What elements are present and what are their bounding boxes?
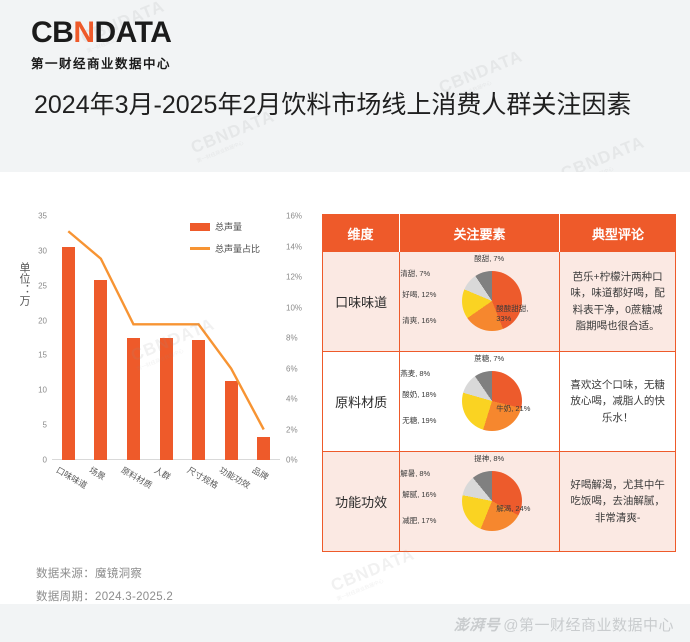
factors-table: 维度 关注要素 典型评论 口味味道酸酸甜甜,33%清爽, 16%好喝, 12%清… [322,214,676,552]
y-axis-tick: 10 [38,386,47,395]
page-footer: 数据来源：魔镜洞察 数据周期：2024.3-2025.2 澎湃号@第一财经商业数… [0,604,690,642]
pie-slice-label: 酸奶, 18% [402,390,436,400]
legend-item-line: 总声量占比 [190,242,260,255]
logo-subtitle: 第一财经商业数据中心 [31,53,171,72]
dimension-label: 功能功效 [335,492,387,511]
chart-legend: 总声量 总声量占比 [190,220,260,264]
x-axis-tick-label: 品牌 [250,464,271,483]
pie-slice-label: 酸甜, 7% [474,254,504,264]
y2-axis-tick: 6% [286,364,298,373]
y2-axis-tick: 2% [286,425,298,434]
typical-comment-text: 喜欢这个口味，无糖放心喝，减脂人的快乐水！ [560,377,675,426]
table-row: 口味味道酸酸甜甜,33%清爽, 16%好喝, 12%清甜, 7%酸甜, 7%芭乐… [322,252,676,352]
y-axis-tick: 5 [43,421,47,430]
pie-slice-label: 解暑, 8% [400,469,430,479]
y-axis-tick: 20 [38,316,47,325]
table-header-comments: 典型评论 [560,214,676,252]
y-axis-tick: 15 [38,351,47,360]
pie-chart: 酸酸甜甜,33%清爽, 16%好喝, 12%清甜, 7%酸甜, 7% [400,252,559,351]
legend-bar-label: 总声量 [215,220,242,233]
typical-comment-text: 芭乐+柠檬汁两种口味，味道都好喝，配料表干净，0蔗糖减脂期喝也很合适。 [560,269,675,334]
table-cell-pie-chart: 解渴, 24%减肥, 17%解腻, 16%解暑, 8%提神, 8% [400,452,560,551]
x-axis-tick-label: 原料材质 [119,464,154,491]
table-cell-comment: 好喝解渴，尤其中午吃饭喝，去油解腻，非常清爽- [560,452,675,551]
page-title: 2024年3月-2025年2月饮料市场线上消费人群关注因素 [34,88,634,123]
table-cell-dimension: 原料材质 [323,352,400,451]
pie-slice-label: 燕麦, 8% [400,369,430,379]
pie-slice-label: 减肥, 17% [402,516,436,526]
table-row: 原料材质牛奶, 21%无糖, 19%酸奶, 18%燕麦, 8%蔗糖, 7%喜欢这… [322,352,676,452]
pie-slice-label: 清爽, 16% [402,316,436,326]
table-header-elements: 关注要素 [400,214,560,252]
dimension-label: 原料材质 [335,392,387,411]
y-axis-title: 单位：万 [16,262,32,306]
dimension-label: 口味味道 [335,292,387,311]
publisher-name: @第一财经商业数据中心 [503,617,674,634]
table-header-row: 维度 关注要素 典型评论 [322,214,676,252]
pie-slice-label: 无糖, 19% [402,416,436,426]
data-period-text: 数据周期：2024.3-2025.2 [36,588,173,604]
table-cell-comment: 芭乐+柠檬汁两种口味，味道都好喝，配料表干净，0蔗糖减脂期喝也很合适。 [560,252,675,351]
y2-axis-tick: 10% [286,303,302,312]
table-cell-pie-chart: 酸酸甜甜,33%清爽, 16%好喝, 12%清甜, 7%酸甜, 7% [400,252,560,351]
cbndata-logo: CBNDATA 第一财经商业数据中心 [31,18,171,72]
table-cell-comment: 喜欢这个口味，无糖放心喝，减脂人的快乐水！ [560,352,675,451]
pie-chart: 解渴, 24%减肥, 17%解腻, 16%解暑, 8%提神, 8% [400,452,559,551]
pie-slices [462,471,522,531]
pie-slice-label: 解腻, 16% [402,490,436,500]
pie-chart: 牛奶, 21%无糖, 19%酸奶, 18%燕麦, 8%蔗糖, 7% [400,352,559,451]
x-axis-tick-label: 口味味道 [54,464,89,491]
content-card: 单位：万 051015202530350%2%4%6%8%10%12%14%16… [0,172,690,604]
logo-cb: CB [31,16,73,49]
pie-slice-label: 提神, 8% [474,454,504,464]
y-axis-tick: 30 [38,246,47,255]
pie-slice-label: 解渴, 24% [496,504,530,514]
publisher-brand: 澎湃号@第一财经商业数据中心 [454,614,674,635]
paopai-mark: 澎湃号 [454,617,501,634]
x-axis-tick-label: 人群 [152,464,173,483]
legend-item-bar: 总声量 [190,220,260,233]
y2-axis-tick: 14% [286,242,302,251]
x-axis-tick-label: 场景 [87,464,108,483]
legend-line-label: 总声量占比 [215,242,260,255]
logo-data: DATA [95,16,172,49]
pie-slices [462,371,522,431]
table-row: 功能功效解渴, 24%减肥, 17%解腻, 16%解暑, 8%提神, 8%好喝解… [322,452,676,552]
pie-slice-label: 蔗糖, 7% [474,354,504,364]
pie-slice-label: 好喝, 12% [402,290,436,300]
pie-slice-label: 酸酸甜甜,33% [496,304,528,324]
pie-slice-label: 牛奶, 21% [496,404,530,414]
y-axis-tick: 25 [38,281,47,290]
table-body: 口味味道酸酸甜甜,33%清爽, 16%好喝, 12%清甜, 7%酸甜, 7%芭乐… [322,252,676,552]
y2-axis-tick: 4% [286,395,298,404]
y-axis-tick: 35 [38,212,47,221]
table-cell-dimension: 功能功效 [323,452,400,551]
y2-axis-tick: 12% [286,273,302,282]
typical-comment-text: 好喝解渴，尤其中午吃饭喝，去油解腻，非常清爽- [560,477,675,526]
y-axis-tick: 0 [43,456,47,465]
y2-axis-tick: 16% [286,212,302,221]
pie-slice-label: 清甜, 7% [400,269,430,279]
y2-axis-tick: 0% [286,456,298,465]
table-cell-pie-chart: 牛奶, 21%无糖, 19%酸奶, 18%燕麦, 8%蔗糖, 7% [400,352,560,451]
x-axis-tick-label: 功能功效 [217,464,252,491]
logo-n: N [73,16,94,49]
table-cell-dimension: 口味味道 [323,252,400,351]
table-header-dimension: 维度 [322,214,400,252]
combo-bar-line-chart: 单位：万 051015202530350%2%4%6%8%10%12%14%16… [14,206,316,516]
page-header: CBNDATA 第一财经商业数据中心 2024年3月-2025年2月饮料市场线上… [0,0,690,172]
x-axis-tick-label: 尺寸规格 [185,464,220,491]
infographic-page: CBNDATA第一财经商业数据中心 CBNDATA第一财经商业数据中心 CBND… [0,0,690,642]
logo-wordmark: CBNDATA [31,18,171,48]
y2-axis-tick: 8% [286,334,298,343]
legend-line-swatch-icon [190,247,210,250]
data-source-text: 数据来源：魔镜洞察 [36,565,142,581]
legend-bar-swatch-icon [190,223,210,231]
